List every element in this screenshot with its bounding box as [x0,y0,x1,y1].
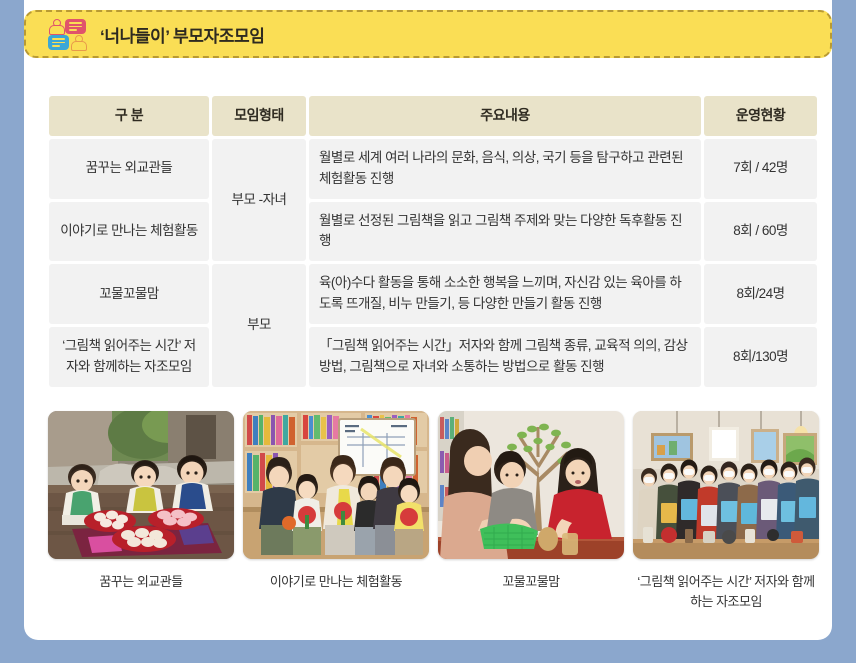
photo-caption: 이야기로 만나는 체험활동 [270,572,402,592]
table-row: ‘그림책 읽어주는 시간’ 저자와 함께하는 자조모임 「그림책 읽어주는 시간… [49,327,817,387]
cell-operation-status: 8회/130명 [704,327,817,387]
cell-group-type: 부모 [212,264,306,387]
cell-main-content: 월별로 선정된 그림책을 읽고 그림책 주제와 맞는 다양한 독후활동 진행 [309,202,701,262]
cell-operation-status: 7회 / 42명 [704,139,817,199]
cell-operation-status: 8회/24명 [704,264,817,324]
column-header-group-type: 모임형태 [212,96,306,136]
photo-gallery: 꿈꾸는 외교관들 [48,411,811,612]
cell-main-content: 월별로 세계 여러 나라의 문화, 음식, 의상, 국기 등을 탐구하고 관련된… [309,139,701,199]
person-glyph-top-left [48,19,64,33]
photo-caption: 꿈꾸는 외교관들 [99,572,182,592]
table-row: 꿈꾸는 외교관들 부모 -자녀 월별로 세계 여러 나라의 문화, 음식, 의상… [49,139,817,199]
section-banner: ‘너나들이’ 부모자조모임 [24,10,832,58]
photo-children-hanbok-rice-cakes [48,411,234,559]
photo-mothers-knitting-cafe [438,411,624,559]
program-table-wrapper: 구 분 모임형태 주요내용 운영현황 꿈꾸는 외교관들 부모 -자녀 월별로 세… [46,93,811,390]
cell-operation-status: 8회 / 60명 [704,202,817,262]
program-table: 구 분 모임형태 주요내용 운영현황 꿈꾸는 외교관들 부모 -자녀 월별로 세… [46,93,820,390]
person-glyph-bottom-right [70,35,86,49]
gallery-item: 꼬물꼬물맘 [438,411,624,612]
cell-category: 꼬물꼬물맘 [49,264,209,324]
cell-category: 꿈꾸는 외교관들 [49,139,209,199]
speech-bubble-glyph-bottom-left [48,35,69,50]
cell-main-content: 「그림책 읽어주는 시간」저자와 함께 그림책 종류, 교육적 의의, 감상 방… [309,327,701,387]
speech-bubble-glyph-top-right [65,19,86,34]
column-header-main-content: 주요내용 [309,96,701,136]
gallery-item: 꿈꾸는 외교관들 [48,411,234,612]
cell-category: ‘그림책 읽어주는 시간’ 저자와 함께하는 자조모임 [49,327,209,387]
gallery-item: ‘그림책 읽어주는 시간’ 저자와 함께하는 자조모임 [633,411,819,612]
cell-group-type: 부모 -자녀 [212,139,306,262]
column-header-operation-status: 운영현황 [704,96,817,136]
banner-title: ‘너나들이’ 부모자조모임 [100,22,264,47]
gallery-item: 이야기로 만나는 체험활동 [243,411,429,612]
table-header-row: 구 분 모임형태 주요내용 운영현황 [49,96,817,136]
column-header-category: 구 분 [49,96,209,136]
table-row: 꼬물꼬물맘 부모 육(아)수다 활동을 통해 소소한 행복을 느끼며, 자신감 … [49,264,817,324]
people-chat-icon [48,19,86,49]
photo-parents-children-library [243,411,429,559]
photo-caption: 꼬물꼬물맘 [502,572,559,592]
table-row: 이야기로 만나는 체험활동 월별로 선정된 그림책을 읽고 그림책 주제와 맞는… [49,202,817,262]
photo-group-holding-picture-books [633,411,819,559]
cell-category: 이야기로 만나는 체험활동 [49,202,209,262]
cell-main-content: 육(아)수다 활동을 통해 소소한 행복을 느끼며, 자신감 있는 육아를 하도… [309,264,701,324]
photo-caption: ‘그림책 읽어주는 시간’ 저자와 함께하는 자조모임 [633,572,819,612]
